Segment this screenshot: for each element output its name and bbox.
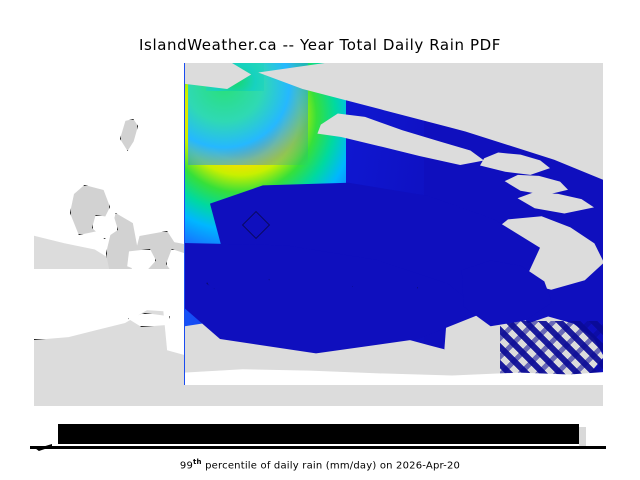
page-title: IslandWeather.ca -- Year Total Daily Rai… — [0, 36, 640, 54]
rain-pdf-raster[interactable] — [184, 63, 603, 385]
figure-canvas: IslandWeather.ca -- Year Total Daily Rai… — [0, 0, 640, 480]
colorbar-strip[interactable] — [58, 424, 579, 444]
colorbar-axis-rule — [30, 446, 606, 449]
mainland-white-region — [34, 63, 186, 213]
caption-description: percentile of daily rain (mm/day) on 202… — [202, 460, 460, 471]
caption-percentile-number: 99 — [180, 460, 193, 471]
map-plot-area[interactable] — [34, 63, 603, 406]
figure-caption: 99th percentile of daily rain (mm/day) o… — [0, 458, 640, 471]
caption-ordinal-suffix: th — [193, 458, 202, 466]
colorbar-container[interactable] — [32, 421, 584, 445]
data-domain-west-edge — [184, 63, 185, 385]
colorbar-end-cap — [579, 427, 586, 447]
